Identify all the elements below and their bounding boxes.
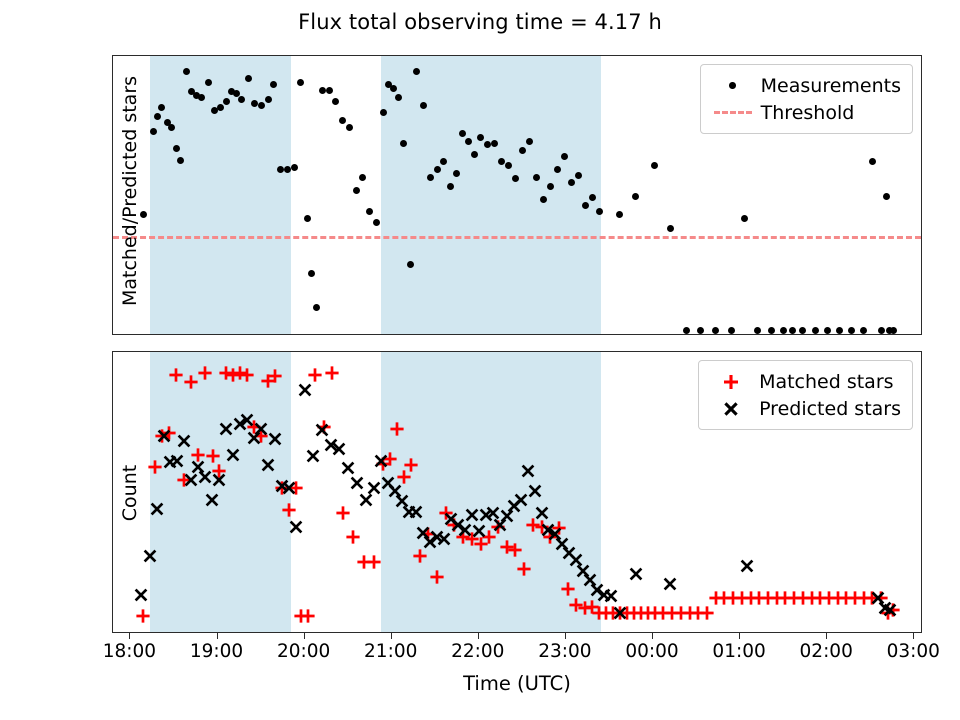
data-point-measurement: [140, 211, 147, 218]
shaded-time-span: [381, 56, 600, 334]
data-point-measurement: [177, 157, 184, 164]
data-point-measurement: [568, 179, 575, 186]
data-point-measurement: [491, 140, 498, 147]
y-tick-mark: [112, 283, 113, 284]
x-tick-mark: [653, 334, 654, 335]
x-tick-mark: [566, 334, 567, 335]
data-point-measurement: [154, 113, 161, 120]
legend-entry-measurements: Measurements: [710, 72, 901, 99]
data-point-measurement: [373, 219, 380, 226]
data-point-measurement: [667, 225, 674, 232]
data-point-measurement: [407, 261, 414, 268]
x-tick-mark: [129, 633, 130, 639]
data-point-measurement: [728, 327, 735, 334]
data-point-measurement: [860, 327, 867, 334]
data-point-measurement: [251, 100, 258, 107]
shaded-time-span: [150, 352, 291, 632]
y-tick-mark: [112, 420, 113, 421]
data-point-measurement: [427, 174, 434, 181]
data-point-measurement: [554, 166, 561, 173]
shaded-time-span: [381, 352, 600, 632]
data-point-measurement: [824, 327, 831, 334]
data-point-measurement: [683, 327, 690, 334]
x-tick-label: 19:00: [190, 641, 243, 662]
data-point-measurement: [420, 102, 427, 109]
data-point-measurement: [471, 151, 478, 158]
data-point-measurement: [277, 166, 284, 173]
legend-entry-predicted-stars: Predicted stars: [708, 395, 901, 422]
data-point-measurement: [158, 104, 165, 111]
x-tick-label: 01:00: [712, 641, 765, 662]
x-axis-label: Time (UTC): [112, 672, 922, 695]
data-point-measurement: [582, 202, 589, 209]
figure-container: Flux total observing time = 4.17 h Measu…: [0, 0, 960, 720]
x-axis-ticks: 18:0019:0020:0021:0022:0023:0000:0001:00…: [112, 633, 922, 673]
x-tick-mark: [479, 334, 480, 335]
x-tick-mark: [478, 633, 479, 639]
measurements-marker-icon: [710, 82, 756, 89]
legend-label-matched-stars: Matched stars: [754, 371, 893, 393]
y-tick-mark: [112, 141, 113, 142]
data-point-measurement: [561, 153, 568, 160]
data-point-measurement: [812, 327, 819, 334]
x-tick-mark: [914, 334, 915, 335]
data-point-measurement: [150, 128, 157, 135]
data-point-measurement: [651, 162, 658, 169]
data-point-measurement: [332, 98, 339, 105]
x-tick-label: 02:00: [800, 641, 853, 662]
x-tick-mark: [304, 633, 305, 639]
top-panel-legend: Measurements Threshold: [700, 64, 913, 134]
x-tick-mark: [740, 334, 741, 335]
data-point-measurement: [400, 140, 407, 147]
data-point-measurement: [291, 164, 298, 171]
legend-label-measurements: Measurements: [756, 75, 901, 97]
x-tick-mark: [217, 633, 218, 639]
data-point-measurement: [270, 81, 277, 88]
y-tick-mark: [112, 94, 113, 95]
y-tick-mark: [112, 495, 113, 496]
data-point-measurement: [596, 208, 603, 215]
x-tick-mark: [826, 633, 827, 639]
data-point-measurement: [540, 196, 547, 203]
data-point-measurement: [380, 109, 387, 116]
data-point-measurement: [836, 327, 843, 334]
data-point-measurement: [589, 194, 596, 201]
data-point-measurement: [346, 124, 353, 131]
data-point-measurement: [632, 193, 639, 200]
bottom-panel-legend: Matched stars Predicted stars: [698, 360, 913, 430]
x-tick-mark: [305, 334, 306, 335]
data-point-measurement: [519, 147, 526, 154]
data-point-measurement: [526, 138, 533, 145]
data-point-measurement: [789, 327, 796, 334]
data-point-measurement: [265, 96, 272, 103]
y-tick-mark: [112, 188, 113, 189]
data-point-measurement: [741, 215, 748, 222]
data-point-measurement: [366, 208, 373, 215]
x-tick-mark: [827, 334, 828, 335]
data-point-measurement: [434, 166, 441, 173]
x-tick-mark: [391, 633, 392, 639]
data-point-measurement: [308, 270, 315, 277]
x-tick-mark: [130, 334, 131, 335]
data-point-measurement: [284, 166, 291, 173]
x-tick-mark: [652, 633, 653, 639]
data-point-measurement: [533, 174, 540, 181]
threshold-line: [113, 236, 921, 239]
data-point-measurement: [477, 134, 484, 141]
x-tick-mark: [739, 633, 740, 639]
data-point-measurement: [883, 193, 890, 200]
data-point-measurement: [878, 327, 885, 334]
data-point-measurement: [799, 327, 806, 334]
top-y-axis-label: Matched/Predicted stars: [119, 55, 141, 335]
data-point-measurement: [217, 104, 224, 111]
legend-label-threshold: Threshold: [756, 102, 855, 124]
data-point-measurement: [697, 327, 704, 334]
chart-title: Flux total observing time = 4.17 h: [0, 10, 960, 34]
y-tick-mark: [112, 571, 113, 572]
data-point-measurement: [353, 187, 360, 194]
data-point-measurement: [616, 211, 623, 218]
data-point-measurement: [390, 85, 397, 92]
threshold-line-icon: [710, 111, 756, 114]
x-tick-mark: [218, 334, 219, 335]
legend-entry-threshold: Threshold: [710, 99, 901, 126]
x-tick-label: 00:00: [625, 641, 678, 662]
x-tick-label: 21:00: [364, 641, 417, 662]
data-point-measurement: [575, 172, 582, 179]
data-point-measurement: [359, 174, 366, 181]
data-point-measurement: [297, 79, 304, 86]
data-point-measurement: [453, 170, 460, 177]
data-point-measurement: [326, 87, 333, 94]
x-tick-label: 18:00: [103, 641, 156, 662]
x-tick-label: 03:00: [887, 641, 940, 662]
data-point-measurement: [754, 327, 761, 334]
data-point-measurement: [459, 130, 466, 137]
predicted-stars-cross-icon: [708, 400, 754, 418]
data-point-measurement: [465, 138, 472, 145]
y-tick-mark: [112, 330, 113, 331]
data-point-measurement: [304, 215, 311, 222]
data-point-measurement: [223, 98, 230, 105]
data-point-measurement: [183, 68, 190, 75]
data-point-measurement: [848, 327, 855, 334]
top-panel-axes: Measurements Threshold 0.000.250.500.751…: [112, 55, 922, 335]
legend-entry-matched-stars: Matched stars: [708, 368, 901, 395]
x-tick-label: 20:00: [277, 641, 330, 662]
x-tick-mark: [392, 334, 393, 335]
data-point-measurement: [447, 183, 454, 190]
legend-label-predicted-stars: Predicted stars: [754, 398, 901, 420]
x-tick-mark: [913, 633, 914, 639]
data-point-measurement: [547, 183, 554, 190]
data-point-measurement: [869, 158, 876, 165]
x-tick-mark: [565, 633, 566, 639]
data-point-measurement: [780, 327, 787, 334]
bottom-y-axis-label: Count: [119, 413, 141, 573]
y-tick-mark: [112, 236, 113, 237]
x-tick-label: 22:00: [451, 641, 504, 662]
data-point-measurement: [339, 117, 346, 124]
x-tick-label: 23:00: [538, 641, 591, 662]
data-point-measurement: [313, 304, 320, 311]
data-point-measurement: [245, 75, 252, 82]
data-point-measurement: [768, 327, 775, 334]
data-point-measurement: [890, 327, 897, 334]
bottom-panel-axes: Matched stars Predicted stars 50100150Co…: [112, 351, 922, 633]
matched-stars-plus-icon: [708, 373, 754, 391]
data-point-measurement: [712, 327, 719, 334]
data-point-measurement: [258, 102, 265, 109]
